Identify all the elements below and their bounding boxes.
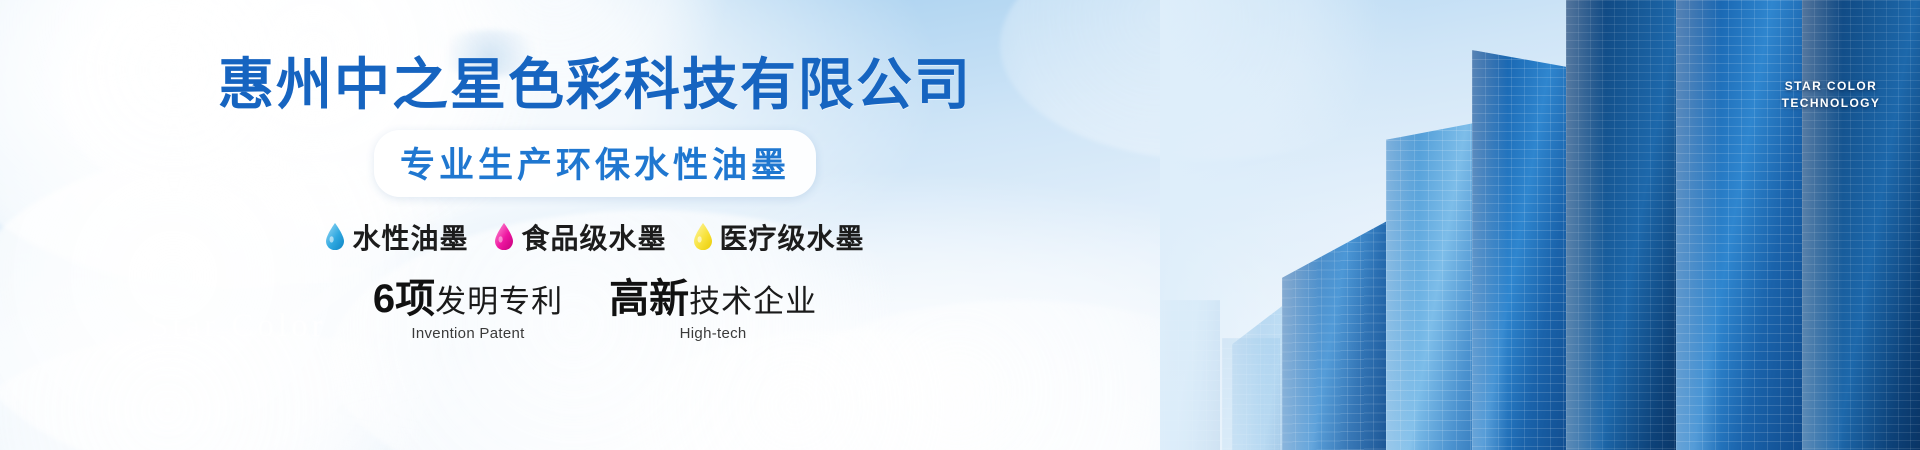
feature-item: 医疗级水墨	[693, 217, 865, 257]
feature-label: 水性油墨	[352, 217, 468, 257]
skyscraper	[1566, 0, 1692, 450]
feature-item: 食品级水墨	[494, 217, 666, 257]
company-name-heading: 惠州中之星色彩科技有限公司	[218, 56, 972, 115]
feature-item: 水性油墨	[325, 217, 468, 257]
skyscraper	[1282, 214, 1400, 450]
subtitle-text: 专业生产环保水性油墨	[400, 146, 790, 185]
badge-main-line: 6项发明专利	[373, 279, 563, 319]
skyline-photo: STAR COLOR TECHNOLOGY	[1160, 0, 1920, 450]
badge-english-text: Invention Patent	[373, 325, 563, 342]
banner-content: 惠州中之星色彩科技有限公司 专业生产环保水性油墨 水性油墨	[0, 0, 1190, 450]
star-color-technology-tag: STAR COLOR TECHNOLOGY	[1756, 78, 1906, 112]
badge-high-tech: 高新技术企业 High-tech	[609, 279, 817, 342]
credential-badges: 6项发明专利 Invention Patent 高新技术企业 High-tech	[373, 279, 817, 342]
badge-rest-text: 发明专利	[435, 284, 563, 319]
tag-line-1: STAR COLOR	[1756, 78, 1906, 95]
tag-line-2: TECHNOLOGY	[1756, 95, 1906, 112]
badge-strong-text: 6项	[373, 277, 435, 321]
skyscraper	[1802, 0, 1920, 450]
badge-invention-patent: 6项发明专利 Invention Patent	[373, 279, 563, 342]
badge-main-line: 高新技术企业	[609, 279, 817, 319]
product-feature-list: 水性油墨 食品级水墨	[325, 217, 864, 257]
company-hero-banner: Star Color STAR COLOR TECHNOLOGY 惠州中之星色彩…	[0, 0, 1920, 450]
water-drop-icon	[693, 223, 713, 250]
water-drop-icon	[325, 223, 345, 250]
subtitle-pill: 专业生产环保水性油墨	[374, 130, 816, 197]
badge-rest-text: 技术企业	[689, 284, 817, 319]
badge-english-text: High-tech	[609, 325, 817, 342]
water-drop-icon	[494, 223, 514, 250]
feature-label: 医疗级水墨	[720, 217, 865, 257]
skyscraper-with-logo	[1676, 0, 1816, 450]
badge-strong-text: 高新	[609, 277, 689, 321]
feature-label: 食品级水墨	[521, 217, 666, 257]
